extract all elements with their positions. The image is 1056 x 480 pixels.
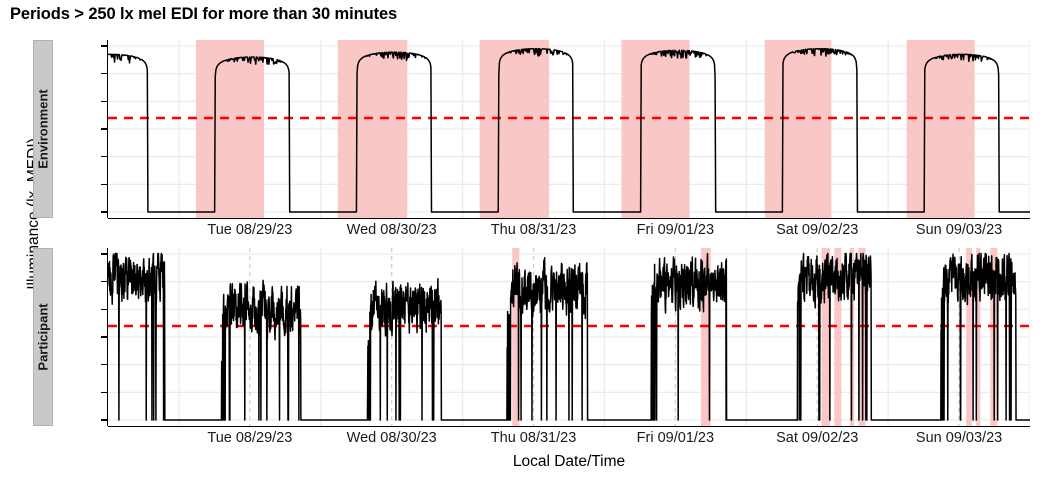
x-tick-label-participant: Sat 09/02/23	[776, 430, 858, 446]
axis-spine-left-participant	[107, 248, 109, 426]
x-tick-label-participant: Sun 09/03/23	[916, 430, 1002, 446]
highlight-band	[338, 40, 408, 218]
highlight-band	[480, 40, 550, 218]
axis-spine-environment	[108, 218, 1030, 220]
plot-panel-environment	[108, 40, 1030, 218]
x-tick-label-participant: Wed 08/30/23	[347, 430, 437, 446]
plot-panel-participant	[108, 248, 1030, 426]
axis-spine-left-environment	[107, 40, 109, 218]
participant-plot-svg	[108, 248, 1030, 426]
x-tick-label-participant: Tue 08/29/23	[207, 430, 292, 446]
axis-spine-participant	[108, 426, 1030, 428]
highlight-band	[196, 40, 264, 218]
x-tick-label-participant: Thu 08/31/23	[491, 430, 576, 446]
environment-plot-svg	[108, 40, 1030, 218]
highlight-band	[621, 40, 689, 218]
x-tick-label-participant: Fri 09/01/23	[637, 430, 714, 446]
highlight-band	[907, 40, 975, 218]
highlight-band	[765, 40, 832, 218]
